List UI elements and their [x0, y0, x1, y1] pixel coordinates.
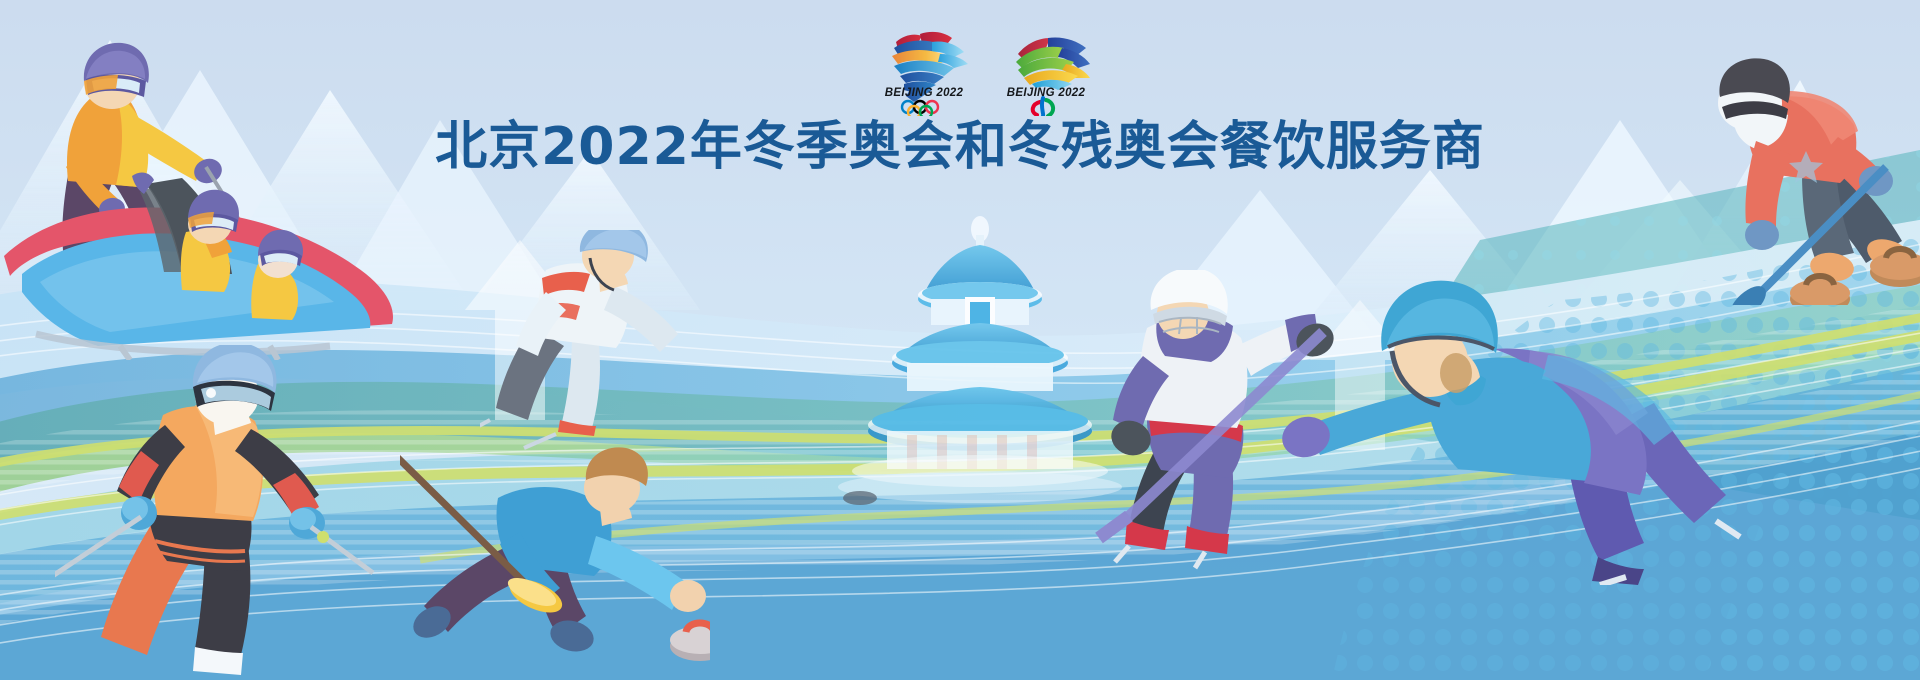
athlete-speed-skater-right: [1280, 255, 1760, 585]
page-title: 北京2022年冬季奥会和冬残奥会餐饮服务商: [0, 118, 1920, 178]
paralympic-wordmark: BEIJING 2022: [1007, 87, 1086, 99]
hockey-puck-icon: [840, 488, 880, 508]
paralympic-agitos: [1033, 98, 1053, 116]
olympic-emblem-svg: BEIJING 2022: [870, 24, 978, 116]
paralympic-emblem: BEIJING 2022: [992, 24, 1100, 116]
emblem-group: BEIJING 2022: [870, 24, 1100, 116]
athlete-bobsled-team: [0, 170, 420, 360]
athlete-cross-country-skier: [55, 345, 375, 680]
curling-stone-right: [1860, 240, 1920, 290]
olympic-wordmark: BEIJING 2022: [885, 87, 964, 99]
paralympic-emblem-svg: BEIJING 2022: [992, 24, 1100, 116]
olympics-banner: BEIJING 2022: [0, 0, 1920, 680]
olympic-emblem: BEIJING 2022: [870, 24, 978, 116]
athlete-curler-bottom: [400, 440, 710, 680]
temple-of-heaven: [835, 215, 1125, 525]
olympic-rings: [902, 101, 938, 116]
athlete-speed-skater-left: [480, 230, 700, 450]
